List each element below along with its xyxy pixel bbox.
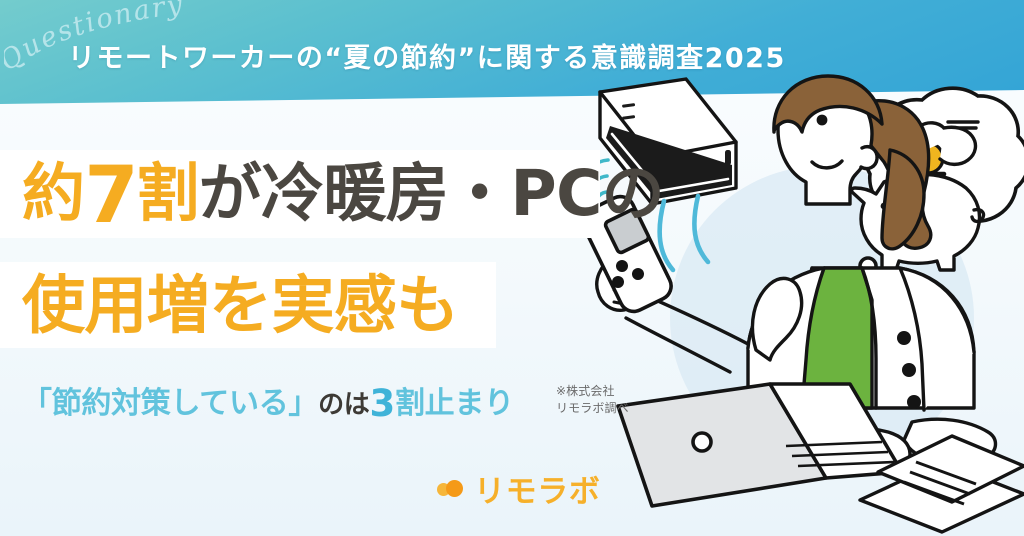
- headline-line-2-text: 使用増を実感も: [22, 269, 459, 342]
- brand-logo-text: リモラボ: [474, 466, 600, 511]
- headline-highlight-prefix: 約: [22, 157, 84, 230]
- button-2: [902, 363, 916, 377]
- brand-logo[interactable]: リモラボ: [437, 466, 600, 511]
- headline-highlight-number: 7: [84, 151, 136, 241]
- illustration-group: [560, 70, 1024, 536]
- subheadline-quoted: 「節約対策している」: [22, 386, 318, 421]
- subheadline-number: 3: [370, 382, 395, 425]
- source-note-line-1: ※株式会社: [556, 383, 629, 400]
- source-note-line-2: リモラボ調べ: [556, 400, 629, 417]
- ear: [861, 147, 877, 169]
- source-note: ※株式会社 リモラボ調べ: [556, 383, 629, 417]
- subheadline-connector: のは: [318, 390, 369, 420]
- headline-line-1: 約7割が冷暖房・PCの: [22, 158, 664, 232]
- banner-canvas: Questionary リモートワーカーの“夏の節約”に関する意識調査2025: [0, 0, 1024, 536]
- subheadline: 「節約対策している」のは3割止まり: [22, 385, 514, 424]
- button-3: [907, 395, 921, 409]
- subheadline-tail: 割止まり: [395, 386, 514, 421]
- laptop-icon: [618, 384, 902, 506]
- headline-highlight-suffix: 割: [136, 157, 198, 230]
- eye: [817, 115, 828, 126]
- two-orange-circles-icon: [437, 478, 467, 500]
- headline-line-2: 使用増を実感も: [22, 270, 459, 342]
- button-1: [897, 331, 911, 345]
- headline-line-1-rest: が冷暖房・PCの: [199, 157, 664, 230]
